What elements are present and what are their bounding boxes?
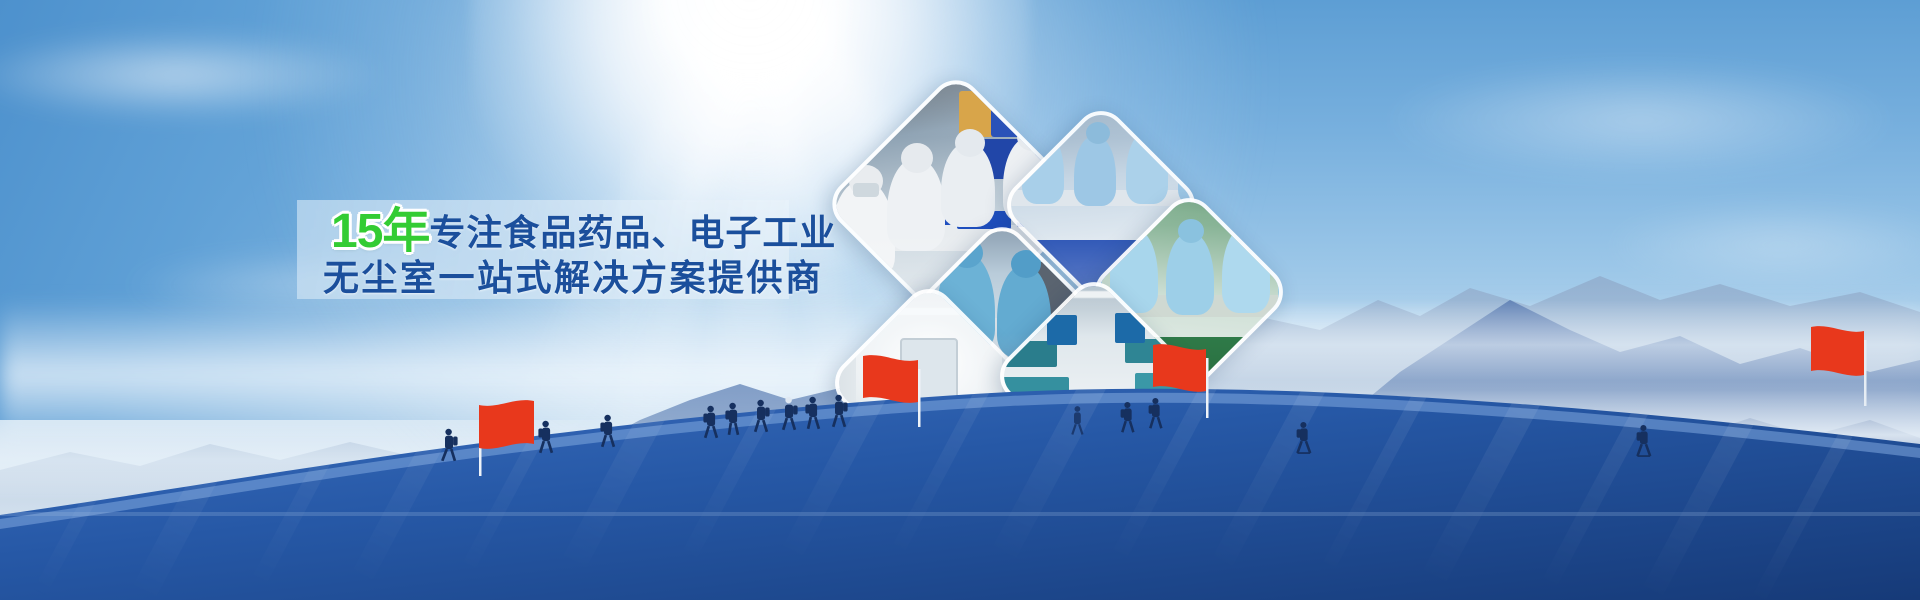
headline-line-2-text: 无尘室一站式解决方案提供商 [323, 257, 824, 298]
years-badge: 15年 [331, 205, 429, 258]
headline-line-1: 15年专注食品药品、电子工业 [313, 207, 833, 257]
headline-block: 15年专注食品药品、电子工业 无尘室一站式解决方案提供商 [313, 196, 833, 308]
headline-line-1-rest: 专注食品药品、电子工业 [429, 212, 836, 253]
headline-line-2: 无尘室一站式解决方案提供商 [313, 259, 833, 296]
hero-banner: 15年专注食品药品、电子工业 无尘室一站式解决方案提供商 [0, 0, 1920, 600]
